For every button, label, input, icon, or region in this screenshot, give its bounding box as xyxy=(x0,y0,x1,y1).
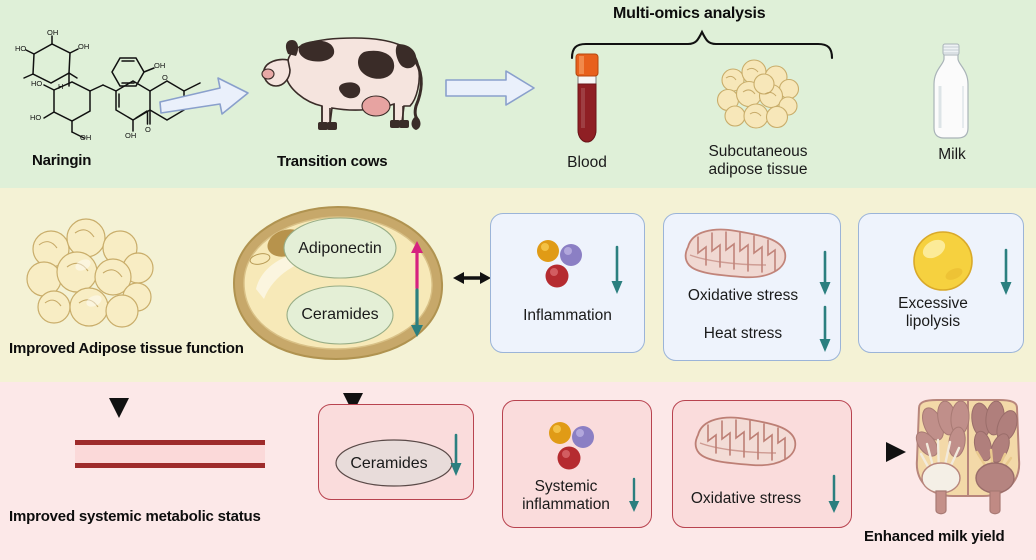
multi-omics-title: Multi-omics analysis xyxy=(613,5,766,23)
mammary-gland-icon xyxy=(905,398,1031,522)
heat-stress-down-arrow-icon xyxy=(818,307,832,353)
transition-cows-label: Transition cows xyxy=(277,153,387,170)
naringin-label: Naringin xyxy=(32,152,91,169)
svg-text:OH: OH xyxy=(78,42,89,51)
mitochondrion-icon xyxy=(680,225,790,283)
ceramides-bottom-down-arrow-icon xyxy=(449,435,463,477)
adipose-tissue-icon xyxy=(716,58,800,132)
oxidative-stress-label: Oxidative stress xyxy=(663,287,823,305)
blood-label: Blood xyxy=(545,154,629,172)
blood-vessel-icon xyxy=(75,440,265,468)
graphical-abstract: OH HO OH H HO HO OH OH O O OH Nari xyxy=(0,0,1036,560)
systemic-inflammation-down-arrow-icon xyxy=(627,479,641,513)
svg-text:HO: HO xyxy=(30,113,41,122)
adipose-tissue-label-line2: adipose tissue xyxy=(698,161,818,179)
svg-text:OH: OH xyxy=(80,133,91,142)
blood-collection-tube-icon xyxy=(572,52,602,144)
svg-text:OH: OH xyxy=(154,61,165,70)
inflammation-label: Inflammation xyxy=(490,307,645,325)
bidirectional-arrow-icon xyxy=(452,268,492,288)
improved-metabolic-status-label: Improved systemic metabolic status xyxy=(9,508,261,525)
systemic-inflammation-label-line2: inflammation xyxy=(496,496,636,514)
systemic-inflammation-label-line1: Systemic xyxy=(496,478,636,496)
lipid-droplet-icon xyxy=(912,230,974,292)
ceramides-down-arrow-icon xyxy=(410,290,424,338)
oxidative-stress-label-bottom: Oxidative stress xyxy=(666,490,826,508)
dairy-cow-icon xyxy=(258,22,430,142)
excessive-lipolysis-label-line2: lipolysis xyxy=(858,313,1008,331)
blue-arrow-naringin-to-cow xyxy=(158,72,250,116)
milk-bottle-icon xyxy=(928,42,974,142)
improved-adipose-cluster-icon xyxy=(25,215,155,337)
svg-text:O: O xyxy=(145,125,151,134)
svg-text:OH: OH xyxy=(125,131,136,140)
ceramides-label-bottom: Ceramides xyxy=(318,455,460,473)
svg-text:HO: HO xyxy=(31,79,42,88)
oxidative-stress-bottom-down-arrow-icon xyxy=(827,476,841,514)
svg-text:OH: OH xyxy=(47,28,58,37)
adiponectin-up-arrow-icon xyxy=(410,240,424,288)
excessive-lipolysis-label-line1: Excessive xyxy=(858,295,1008,313)
arrow-to-milk-yield xyxy=(854,440,908,464)
adipose-tissue-label-line1: Subcutaneous xyxy=(698,143,818,161)
arrow-adipose-to-metabolic xyxy=(107,368,131,420)
enhanced-milk-yield-label: Enhanced milk yield xyxy=(864,528,1004,545)
heat-stress-label: Heat stress xyxy=(663,325,823,343)
milk-label: Milk xyxy=(910,146,994,164)
inflammation-down-arrow-icon xyxy=(610,247,624,295)
improved-adipose-function-label: Improved Adipose tissue function xyxy=(9,340,244,357)
mitochondrion-icon xyxy=(690,413,800,471)
oxidative-stress-down-arrow-icon xyxy=(818,252,832,296)
cytokine-dots-icon xyxy=(533,238,587,290)
cytokine-dots-icon xyxy=(545,420,599,472)
svg-text:HO: HO xyxy=(15,44,26,53)
ceramides-label-cell: Ceramides xyxy=(280,306,400,324)
lipolysis-down-arrow-icon xyxy=(999,250,1013,296)
adiponectin-label: Adiponectin xyxy=(280,240,400,258)
blue-arrow-cow-to-samples xyxy=(444,68,536,108)
svg-text:H: H xyxy=(58,82,63,91)
